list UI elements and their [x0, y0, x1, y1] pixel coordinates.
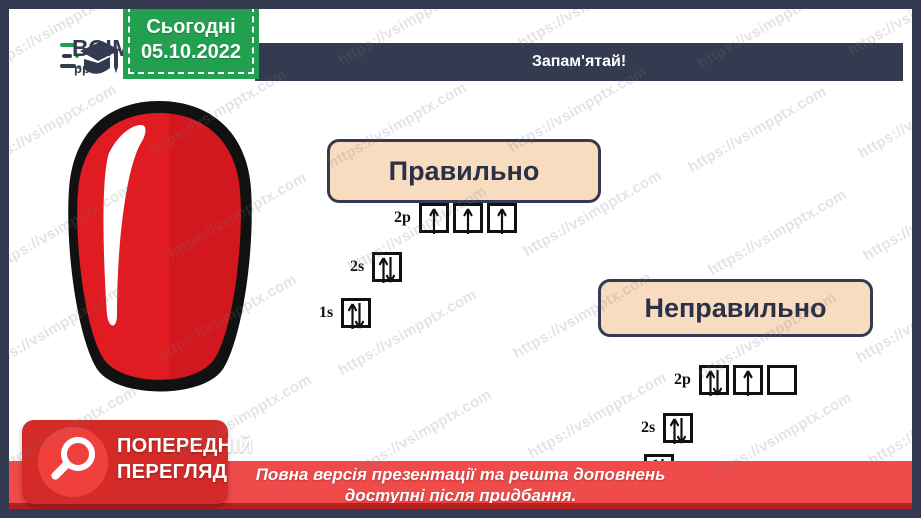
orbital-cells — [341, 298, 371, 328]
orbital-cell — [733, 365, 763, 395]
magnifier-circle — [38, 427, 108, 497]
orbital-cell — [487, 203, 517, 233]
orbital-row: 2p — [674, 365, 797, 395]
label-wrong-text: Неправильно — [644, 293, 826, 324]
orbital-row: 1s — [319, 298, 371, 328]
banner-line-1: Повна версія презентації та решта доповн… — [256, 464, 666, 485]
preview-line-2: ПЕРЕГЛЯД — [117, 460, 227, 485]
brand-logo: ВСІМ pptx — [12, 33, 137, 87]
red-glossy-shape — [61, 97, 257, 402]
orbital-label: 2p — [674, 371, 691, 389]
orbital-cell — [767, 365, 797, 395]
preview-badge[interactable]: ПОПЕРЕДНІЙ ПЕРЕГЛЯД — [22, 420, 228, 504]
orbital-label: 2s — [641, 419, 655, 437]
watermark-text: https://vsimpptx.com — [865, 376, 912, 469]
slide-title-bar: Запам'ятай! — [255, 43, 903, 81]
orbital-label: 2p — [394, 209, 411, 227]
logo-sub-text: pptx — [74, 62, 101, 75]
today-date: 05.10.2022 — [141, 40, 241, 65]
orbital-cell — [663, 413, 693, 443]
orbital-cell — [699, 365, 729, 395]
watermark-text: https://vsimpptx.com — [855, 69, 912, 162]
today-date-badge: Сьогодні 05.10.2022 — [123, 9, 259, 79]
orbital-row: 2p — [394, 203, 517, 233]
orbital-cells — [663, 413, 693, 443]
orbital-cell — [419, 203, 449, 233]
magnifier-icon — [38, 427, 108, 497]
orbital-label: 1s — [319, 304, 333, 322]
label-correct-text: Правильно — [389, 156, 540, 187]
slide-title: Запам'ятай! — [532, 53, 626, 71]
orbital-cell — [372, 252, 402, 282]
label-correct: Правильно — [327, 139, 601, 203]
slide-canvas: ВСІМ pptx Сьогодні 05.10.2022 Запам'ятай… — [9, 9, 912, 509]
label-wrong: Неправильно — [598, 279, 873, 337]
orbital-label: 2s — [350, 258, 364, 276]
orbital-row: 2s — [350, 252, 402, 282]
orbital-cell — [341, 298, 371, 328]
today-label: Сьогодні — [146, 15, 235, 40]
watermark-text: https://vsimpptx.com — [705, 186, 849, 279]
preview-line-1: ПОПЕРЕДНІЙ — [117, 434, 253, 459]
orbital-cell — [453, 203, 483, 233]
orbital-cells — [372, 252, 402, 282]
orbital-cells — [699, 365, 797, 395]
orbital-row: 2s — [641, 413, 693, 443]
watermark-text: https://vsimpptx.com — [860, 171, 912, 264]
watermark-text: https://vsimpptx.com — [685, 83, 829, 176]
orbital-cells — [419, 203, 517, 233]
